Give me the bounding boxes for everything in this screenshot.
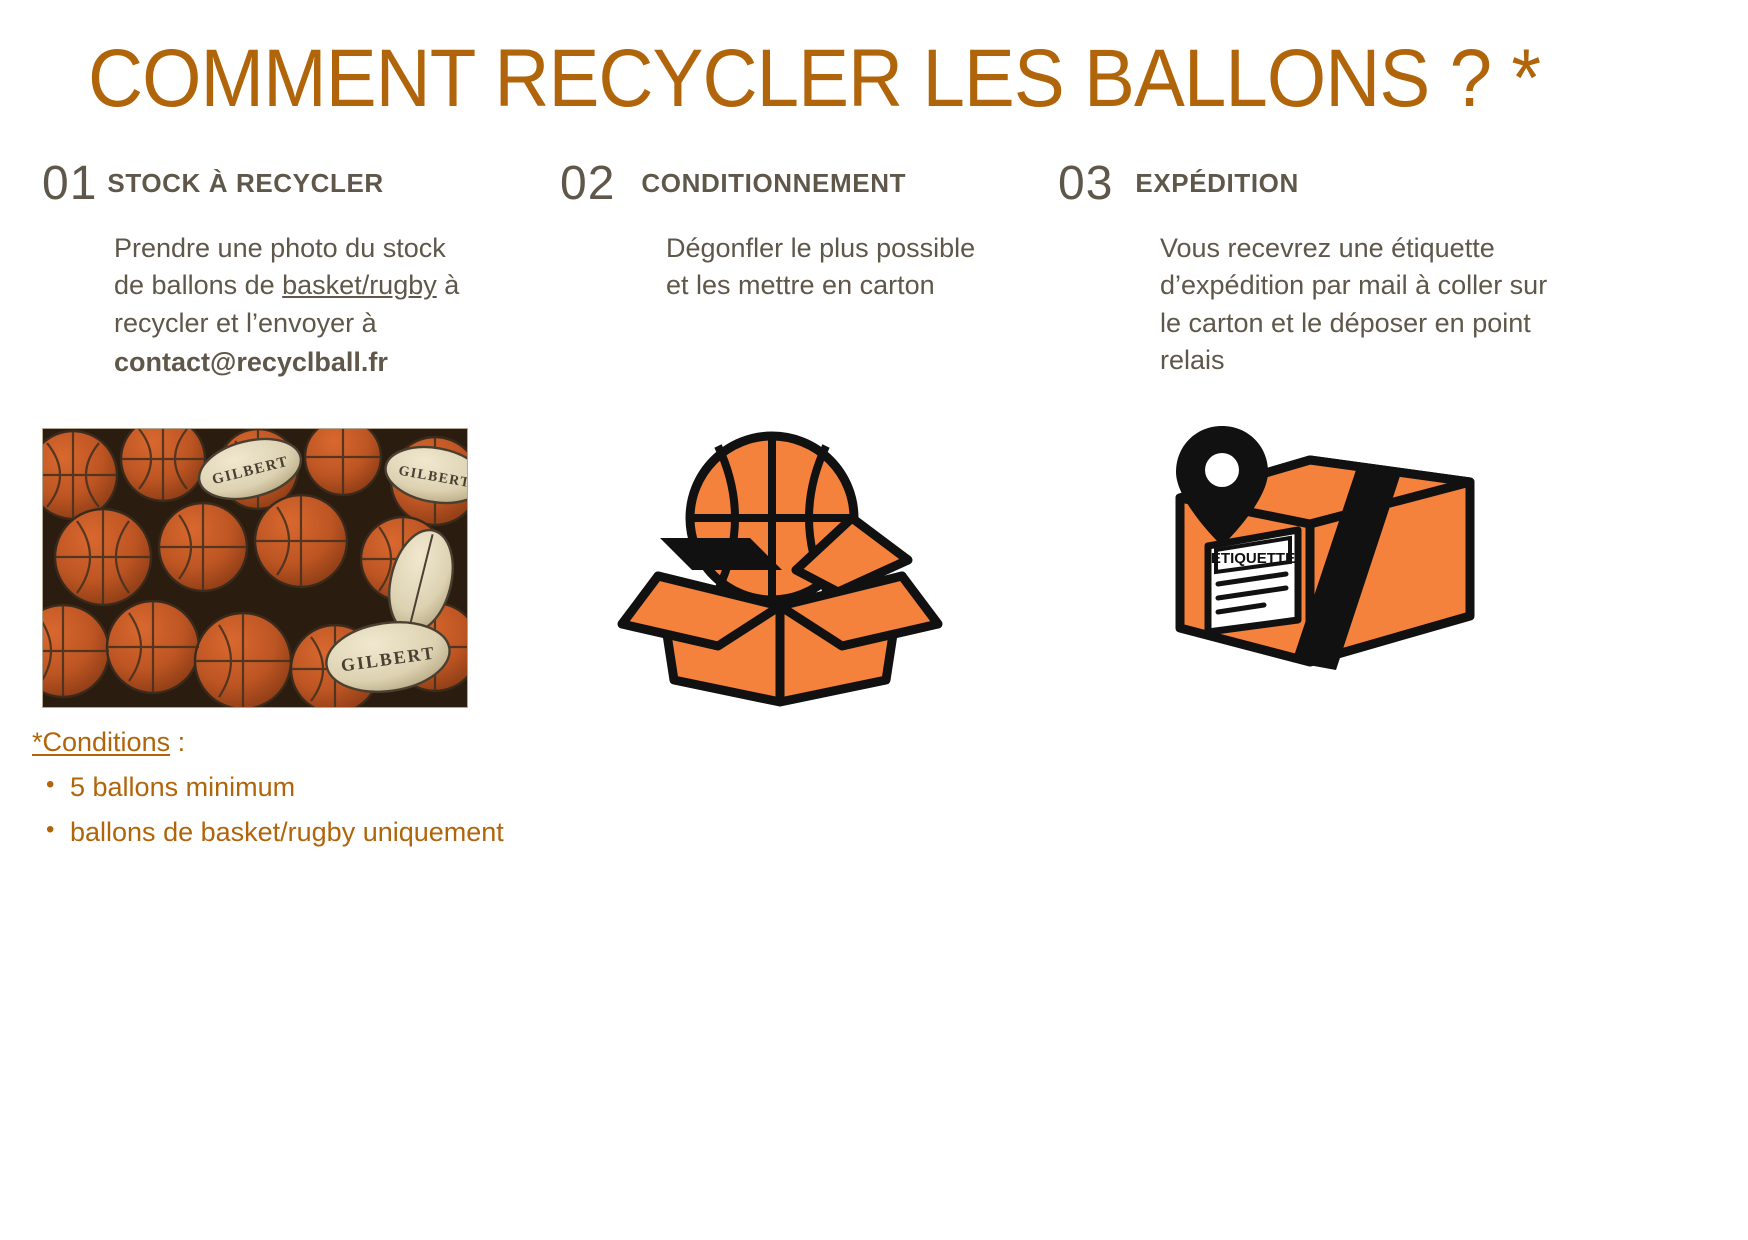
step-column-01: 01 STOCK À RECYCLER Prendre une photo du…: [42, 160, 512, 381]
page-title: COMMENT RECYCLER LES BALLONS ? *: [88, 38, 1539, 120]
step-title-01: STOCK À RECYCLER: [107, 160, 383, 197]
open-box-with-basketball-icon: [600, 410, 960, 710]
step-title-02: CONDITIONNEMENT: [641, 160, 906, 197]
contact-email[interactable]: contact@recyclball.fr: [114, 344, 464, 381]
step-header-01: 01 STOCK À RECYCLER: [42, 160, 512, 208]
infographic-page: COMMENT RECYCLER LES BALLONS ? * 01 STOC…: [0, 0, 1748, 1240]
step-number-02: 02: [560, 160, 615, 208]
balls-photo: GILBERT GILBERT GILBERT: [42, 428, 468, 708]
step-title-03: EXPÉDITION: [1135, 160, 1298, 197]
label-text: ÉTIQUETTE: [1211, 550, 1295, 567]
step-body-02: Dégonfler le plus possible et les mettre…: [666, 230, 996, 305]
step-column-03: 03 EXPÉDITION Vous recevrez une étiquett…: [1058, 160, 1528, 379]
step-body-01-underlined: basket/rugby: [282, 270, 437, 300]
balls-photo-illustration: GILBERT GILBERT GILBERT: [43, 429, 467, 707]
step-number-03: 03: [1058, 160, 1113, 208]
conditions-heading-underlined: *Conditions: [32, 727, 170, 757]
shipping-box-with-label-icon: ÉTIQUETTE: [1160, 420, 1490, 690]
conditions-heading: *Conditions :: [32, 726, 185, 760]
conditions-list: 5 ballons minimum ballons de basket/rugb…: [32, 771, 504, 850]
step-body-01: Prendre une photo du stock de ballons de…: [114, 230, 464, 381]
conditions-block: *Conditions : 5 ballons minimum ballons …: [32, 726, 504, 849]
conditions-heading-suffix: :: [170, 727, 185, 757]
step-header-02: 02 CONDITIONNEMENT: [560, 160, 1030, 208]
list-item: ballons de basket/rugby uniquement: [70, 816, 504, 850]
step-column-02: 02 CONDITIONNEMENT Dégonfler le plus pos…: [560, 160, 1030, 305]
list-item: 5 ballons minimum: [70, 771, 504, 805]
step-body-03: Vous recevrez une étiquette d’expédition…: [1160, 230, 1560, 379]
step-number-01: 01: [42, 160, 97, 208]
step-header-03: 03 EXPÉDITION: [1058, 160, 1528, 208]
